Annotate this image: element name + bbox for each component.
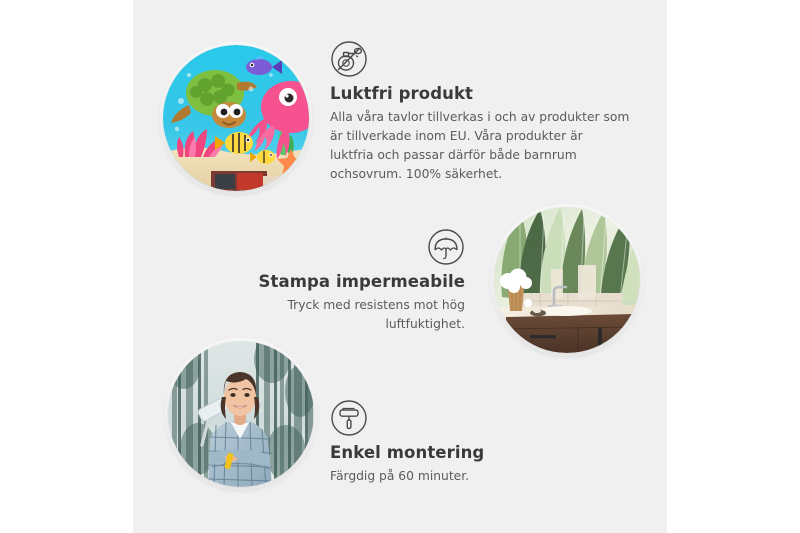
feature-title: Stampa impermeabile: [215, 272, 465, 292]
umbrella-icon: [427, 228, 465, 266]
photo-clip: [163, 45, 309, 191]
infographic-page: Luktfri produkt Alla våra tavlor tillver…: [0, 0, 800, 533]
underwater-illustration: [163, 45, 309, 191]
no-fragrance-icon: [330, 40, 368, 78]
bathroom-interior-photo: [494, 207, 640, 353]
feature-title: Enkel montering: [330, 443, 570, 463]
feature-block-easy-install: Enkel montering Färgdig på 60 minuter.: [330, 399, 570, 486]
feature-body: Färgdig på 60 minuter.: [330, 467, 570, 486]
photo-clip: [168, 341, 314, 487]
photo-clip: [494, 207, 640, 353]
underwater-cartoon-photo: [163, 45, 309, 191]
feature-block-odourless: Luktfri produkt Alla våra tavlor tillver…: [330, 40, 630, 184]
painter-illustration: [168, 341, 314, 487]
feature-title: Luktfri produkt: [330, 84, 630, 104]
feature-body: Tryck med resistens mot hög luftfuktighe…: [215, 296, 465, 334]
painter-woman-photo: [168, 341, 314, 487]
feature-block-waterproof: Stampa impermeabile Tryck med resistens …: [215, 228, 465, 334]
bathroom-illustration: [494, 207, 640, 353]
feature-body: Alla våra tavlor tillverkas i och av pro…: [330, 108, 630, 185]
paint-roller-icon: [330, 399, 368, 437]
